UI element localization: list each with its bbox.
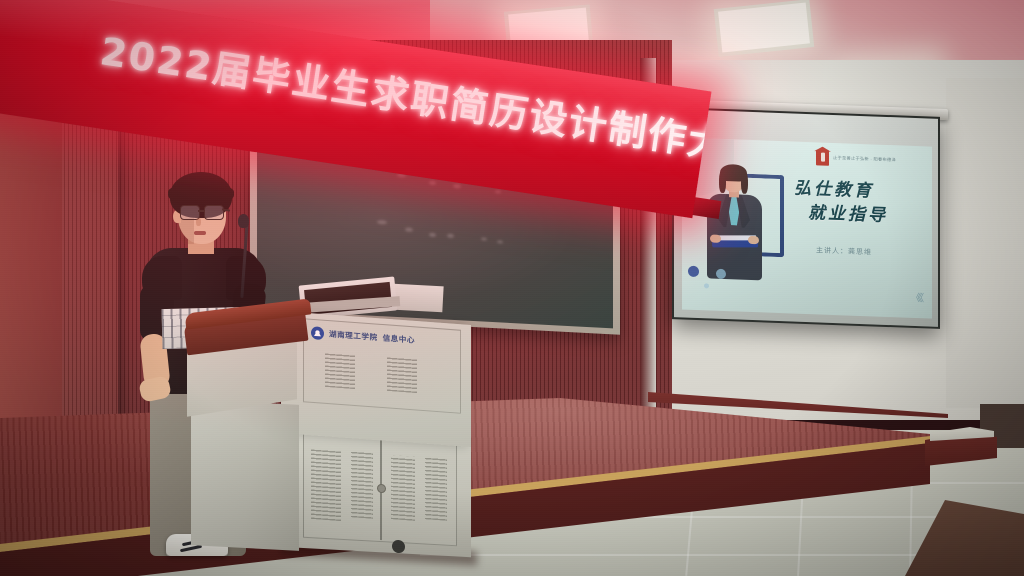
slide-presenter-label: 主讲人：龚思维 bbox=[816, 245, 872, 257]
white-wall-far-right bbox=[946, 78, 1024, 408]
lectern-knob[interactable] bbox=[392, 540, 405, 554]
slide-decor-dot-2 bbox=[716, 269, 726, 279]
slide-presenter-photo bbox=[704, 166, 770, 280]
slide-arrow-glyph: 《《 bbox=[911, 289, 922, 304]
lectern-pedestal bbox=[191, 399, 299, 551]
slide-decor-dot-3 bbox=[704, 283, 709, 288]
brand-house-icon bbox=[816, 149, 829, 165]
slide-brand-logo: 止于至善止于弘新 · 阳春布德泽 bbox=[816, 149, 896, 168]
cabinet-lock-icon[interactable] bbox=[377, 484, 386, 494]
slide-brand-tagline: 止于至善止于弘新 · 阳春布德泽 bbox=[833, 155, 896, 163]
lectern: 湖南理工学院 信息中心 bbox=[185, 300, 465, 556]
slide-title-line2: 就业指导 bbox=[808, 198, 888, 226]
slide-decor-dot-1 bbox=[688, 266, 699, 277]
university-emblem-icon bbox=[311, 326, 324, 340]
presentation-slide: 弘仕 止于至善止于弘新 · 阳春布德泽 bbox=[682, 137, 932, 318]
slide-title-line1: 弘仕教育 bbox=[794, 174, 874, 202]
eyeglasses-icon bbox=[180, 205, 226, 218]
lectern-department-label: 信息中心 bbox=[383, 332, 415, 345]
lecture-hall-photo: 弘仕 止于至善止于弘新 · 阳春布德泽 bbox=[0, 0, 1024, 576]
microphone-icon bbox=[238, 214, 249, 228]
lectern-institution-label: 湖南理工学院 bbox=[329, 329, 378, 344]
